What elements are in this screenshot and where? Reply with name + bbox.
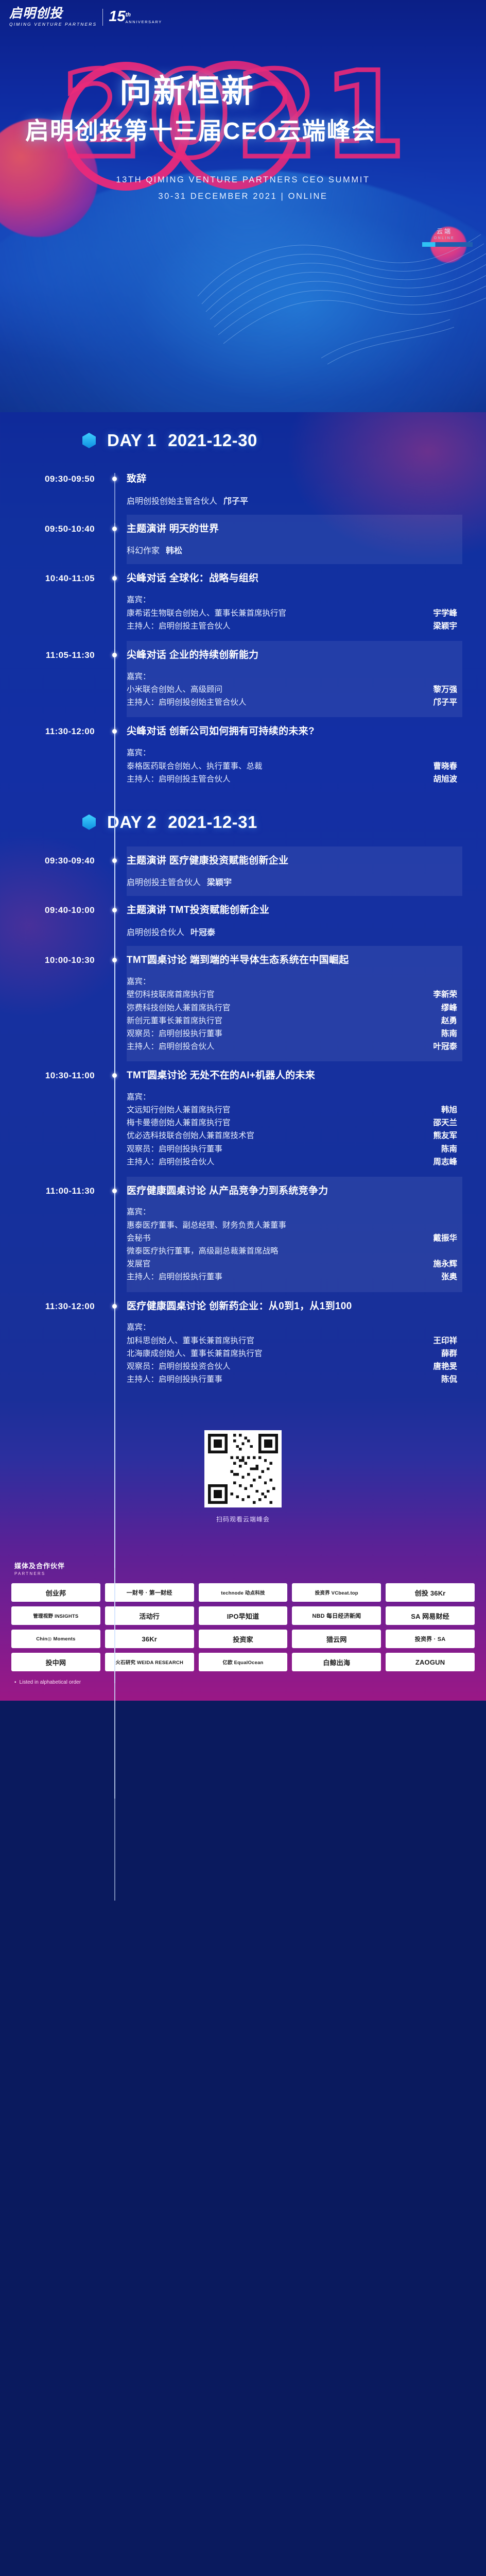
participant-role: 主持人：启明创投主管合伙人 <box>127 620 426 633</box>
session-speaker: 启明创投主管合伙人梁颖宇 <box>127 875 457 888</box>
participant-name: 陈南 <box>434 1027 457 1040</box>
partners-title-en: PARTNERS <box>14 1571 475 1576</box>
participant-line: 主持人：启明创投执行董事陈侃 <box>127 1373 457 1386</box>
participant-name: 胡旭波 <box>426 773 457 786</box>
partner-logo[interactable]: 36Kr <box>105 1630 194 1648</box>
hero-english-line-1: 13TH QIMING VENTURE PARTNERS CEO SUMMIT <box>0 175 486 185</box>
partners-note: Listed in alphabetical order <box>11 1680 475 1685</box>
partner-logo[interactable]: 活动行 <box>105 1606 194 1625</box>
participant-role: 新创元董事长兼首席执行官 <box>127 1014 434 1027</box>
participant-line: 弥费科技创始人兼首席执行官缪峰 <box>127 1002 457 1014</box>
guest-label: 嘉宾： <box>127 1206 457 1219</box>
session-speaker: 启明创投合伙人叶冠泰 <box>127 925 457 938</box>
participant-line: 会秘书戴振华 <box>127 1232 457 1245</box>
partner-logo[interactable]: 猎云网 <box>292 1630 381 1648</box>
speaker-name: 邝子平 <box>217 497 248 506</box>
partner-logo[interactable]: 投资界 · SA <box>386 1630 475 1648</box>
anniversary-label: ANNIVERSARY <box>126 20 162 24</box>
partner-row: 创业邦一财号 · 第一财经technode 动点科技投资界 VCbeat.top… <box>11 1583 475 1602</box>
session-body: 主题演讲 明天的世界科幻作家韩松 <box>127 523 486 556</box>
partners-section: 媒体及合作伙伴 PARTNERS 创业邦一财号 · 第一财经technode 动… <box>0 1547 486 1701</box>
participant-line: 壁仞科技联席首席执行官李新荣 <box>127 988 457 1001</box>
partner-row: Chin◎ Moments36Kr投资家猎云网投资界 · SA <box>11 1630 475 1648</box>
partners-title-cn: 媒体及合作伙伴 <box>14 1561 475 1570</box>
session-row: 11:05-11:30尖峰对话 企业的持续创新能力嘉宾：小米联合创始人、高级顾问… <box>0 641 486 717</box>
timeline-dot-icon <box>112 477 117 481</box>
participant-line: 康希诺生物联合创始人、董事长兼首席执行官宇学峰 <box>127 607 457 620</box>
hero-english-line-2: 30-31 DECEMBER 2021 | ONLINE <box>0 192 486 201</box>
guest-label: 嘉宾： <box>127 594 457 607</box>
participant-line: 发展官施永辉 <box>127 1258 457 1270</box>
timeline-dot-icon <box>112 576 117 581</box>
session-body: 医疗健康圆桌讨论 从产品竞争力到系统竞争力嘉宾：惠泰医疗董事、副总经理、财务负责… <box>127 1185 486 1284</box>
partner-logo[interactable]: 亿欧 EqualOcean <box>199 1653 288 1671</box>
partner-logo[interactable]: 投资家 <box>199 1630 288 1648</box>
spacer <box>127 585 457 594</box>
speaker-role: 科幻作家 <box>127 547 160 555</box>
session-row: 11:00-11:30医疗健康圆桌讨论 从产品竞争力到系统竞争力嘉宾：惠泰医疗董… <box>0 1177 486 1292</box>
partner-logo[interactable]: 创业邦 <box>11 1583 100 1602</box>
session-row: 09:30-09:50致辞启明创投创始主管合伙人邝子平 <box>0 465 486 515</box>
participant-line: 主持人：启明创投主管合伙人梁颖宇 <box>127 620 457 633</box>
session-time: 09:30-09:50 <box>0 473 103 506</box>
session-row: 10:00-10:30TMT圆桌讨论 端到端的半导体生态系统在中国崛起嘉宾：壁仞… <box>0 946 486 1061</box>
participant-name <box>279 1245 286 1258</box>
participant-role: 主持人：启明创投创始主管合伙人 <box>127 696 426 709</box>
participant-role: 观察员：启明创投执行董事 <box>127 1143 434 1156</box>
session-title: 主题演讲 医疗健康投资赋能创新企业 <box>127 855 457 868</box>
guest-label: 嘉宾： <box>127 975 457 989</box>
anniversary-badge: 15 th ANNIVERSARY <box>109 10 162 24</box>
participant-line: 惠泰医疗董事、副总经理、财务负责人兼董事 <box>127 1219 457 1232</box>
participant-name: 宇学峰 <box>426 607 457 620</box>
partner-logo[interactable]: 白鲸出海 <box>292 1653 381 1671</box>
participant-name: 黎万强 <box>426 683 457 696</box>
speaker-name: 韩松 <box>160 547 182 555</box>
session-speaker: 科幻作家韩松 <box>127 544 457 556</box>
participant-role: 泰格医药联合创始人、执行董事、总裁 <box>127 760 426 773</box>
session-title: 医疗健康圆桌讨论 从产品竞争力到系统竞争力 <box>127 1185 457 1198</box>
speaker-role: 启明创投主管合伙人 <box>127 878 201 887</box>
participant-line: 加科思创始人、董事长兼首席执行官王印祥 <box>127 1334 457 1347</box>
session-title: 医疗健康圆桌讨论 创新药企业：从0到1，从1到100 <box>127 1300 457 1313</box>
session-time: 10:00-10:30 <box>0 954 103 1053</box>
spacer <box>127 1197 457 1206</box>
partner-logo[interactable]: NBD 每日经济新闻 <box>292 1606 381 1625</box>
timeline-axis <box>103 523 127 556</box>
qr-code-image <box>208 1434 278 1504</box>
partner-logo[interactable]: 一财号 · 第一财经 <box>105 1583 194 1602</box>
session-row: 11:30-12:00尖峰对话 创新公司如何拥有可持续的未来?嘉宾：泰格医药联合… <box>0 717 486 793</box>
participant-name: 周志峰 <box>426 1156 457 1168</box>
timeline-axis <box>103 649 127 709</box>
participant-role: 微泰医疗执行董事，高级副总裁兼首席战略 <box>127 1245 279 1258</box>
online-badge-cn: 云端 <box>416 227 473 235</box>
participant-line: 主持人：启明创投执行董事张奥 <box>127 1270 457 1283</box>
spacer <box>127 867 457 875</box>
session-title: 尖峰对话 全球化：战略与组织 <box>127 572 457 585</box>
anniversary-number: 15 <box>109 10 125 23</box>
session-time: 09:30-09:40 <box>0 855 103 888</box>
session-body: 医疗健康圆桌讨论 创新药企业：从0到1，从1到100嘉宾：加科思创始人、董事长兼… <box>127 1300 486 1386</box>
participant-name: 邵天兰 <box>426 1116 457 1129</box>
participant-name: 施永辉 <box>426 1258 457 1270</box>
participant-role: 优必选科技联合创始人兼首席技术官 <box>127 1129 426 1142</box>
timeline-axis <box>103 725 127 785</box>
hero-subheadline: 启明创投第十三届CEO云端峰会 <box>25 112 376 146</box>
timeline-dot-icon <box>112 958 117 962</box>
participant-role: 主持人：启明创投主管合伙人 <box>127 773 426 786</box>
guest-label: 嘉宾： <box>127 1091 457 1104</box>
participant-name: 熊友军 <box>426 1129 457 1142</box>
partner-logo[interactable]: 管理视野 INSIGHTS <box>11 1606 100 1625</box>
participant-role: 壁仞科技联席首席执行官 <box>127 988 426 1001</box>
session-row: 09:40-10:00主题演讲 TMT投资赋能创新企业启明创投合伙人叶冠泰 <box>0 896 486 946</box>
participant-line: 观察员：启明创投投资合伙人唐艳旻 <box>127 1360 457 1373</box>
participant-role: 发展官 <box>127 1258 426 1270</box>
session-time: 10:40-11:05 <box>0 572 103 632</box>
participant-role: 北海康成创始人、董事长兼首席执行官 <box>127 1347 434 1360</box>
guest-label: 嘉宾： <box>127 1321 457 1334</box>
qr-section: 扫码观看云端峰会 <box>0 1399 486 1547</box>
partner-logo[interactable]: 创投 36Kr <box>386 1583 475 1602</box>
participant-role: 主持人：启明创投执行董事 <box>127 1270 434 1283</box>
session-body: TMT圆桌讨论 无处不在的AI+机器人的未来嘉宾：文远知行创始人兼首席执行官韩旭… <box>127 1070 486 1168</box>
spacer <box>127 662 457 670</box>
session-body: 主题演讲 TMT投资赋能创新企业启明创投合伙人叶冠泰 <box>127 904 486 938</box>
participant-line: 优必选科技联合创始人兼首席技术官熊友军 <box>127 1129 457 1142</box>
day-header-1: DAY 12021-12-30 <box>0 412 486 465</box>
participant-role: 主持人：启明创投合伙人 <box>127 1156 426 1168</box>
participant-name: 梁颖宇 <box>426 620 457 633</box>
timeline-dot-icon <box>112 1073 117 1078</box>
participant-name <box>286 1219 293 1232</box>
participant-line: 梅卡曼德创始人兼首席执行官邵天兰 <box>127 1116 457 1129</box>
participant-name: 张奥 <box>434 1270 457 1283</box>
session-body: 尖峰对话 全球化：战略与组织嘉宾：康希诺生物联合创始人、董事长兼首席执行官宇学峰… <box>127 572 486 632</box>
timeline-axis <box>103 473 127 506</box>
day-date: 2021-12-31 <box>168 812 257 832</box>
participant-name: 陈南 <box>434 1143 457 1156</box>
timeline-dot-icon <box>112 1304 117 1309</box>
partner-logo[interactable]: IPO早知道 <box>199 1606 288 1625</box>
partner-logo[interactable]: 投资界 VCbeat.top <box>292 1583 381 1602</box>
session-title: 主题演讲 明天的世界 <box>127 523 457 536</box>
spacer <box>127 535 457 544</box>
participant-role: 观察员：启明创投执行董事 <box>127 1027 434 1040</box>
participant-name: 邝子平 <box>426 696 457 709</box>
timeline-dot-icon <box>112 527 117 531</box>
participant-line: 主持人：启明创投主管合伙人胡旭波 <box>127 773 457 786</box>
session-title: TMT圆桌讨论 端到端的半导体生态系统在中国崛起 <box>127 954 457 967</box>
session-speaker: 启明创投创始主管合伙人邝子平 <box>127 494 457 506</box>
spacer <box>127 1082 457 1091</box>
participant-line: 微泰医疗执行董事，高级副总裁兼首席战略 <box>127 1245 457 1258</box>
session-title: 致辞 <box>127 473 457 486</box>
spacer <box>127 738 457 747</box>
participant-line: 主持人：启明创投合伙人周志峰 <box>127 1156 457 1168</box>
session-time: 11:30-12:00 <box>0 1300 103 1386</box>
session-time: 10:30-11:00 <box>0 1070 103 1168</box>
hero-banner: 启明创投 QIMING VENTURE PARTNERS 15 th ANNIV… <box>0 0 486 412</box>
participant-line: 主持人：启明创投创始主管合伙人邝子平 <box>127 696 457 709</box>
speaker-name: 叶冠泰 <box>184 928 215 937</box>
spacer <box>127 917 457 925</box>
participant-line: 泰格医药联合创始人、执行董事、总裁曹晓春 <box>127 760 457 773</box>
participant-role: 弥费科技创始人兼首席执行官 <box>127 1002 434 1014</box>
participant-role: 主持人：启明创投执行董事 <box>127 1373 434 1386</box>
day-date: 2021-12-30 <box>168 431 257 450</box>
session-time: 11:30-12:00 <box>0 725 103 785</box>
session-time: 11:05-11:30 <box>0 649 103 709</box>
session-row: 11:30-12:00医疗健康圆桌讨论 创新药企业：从0到1，从1到100嘉宾：… <box>0 1292 486 1395</box>
brand-logo-cn: 启明创投 <box>9 7 97 20</box>
timeline-axis <box>103 1070 127 1168</box>
participant-name: 薛群 <box>434 1347 457 1360</box>
participant-name: 韩旭 <box>434 1104 457 1116</box>
day-header-2: DAY 22021-12-31 <box>0 794 486 846</box>
timeline-dot-icon <box>112 1189 117 1193</box>
timeline-axis <box>103 572 127 632</box>
guest-label: 嘉宾： <box>127 670 457 684</box>
session-row: 10:40-11:05尖峰对话 全球化：战略与组织嘉宾：康希诺生物联合创始人、董… <box>0 564 486 640</box>
session-title: 主题演讲 TMT投资赋能创新企业 <box>127 904 457 917</box>
session-time: 09:40-10:00 <box>0 904 103 938</box>
participant-name: 陈侃 <box>434 1373 457 1386</box>
participant-role: 加科思创始人、董事长兼首席执行官 <box>127 1334 426 1347</box>
spacer <box>127 486 457 494</box>
participant-line: 小米联合创始人、高级顾问黎万强 <box>127 683 457 696</box>
timeline-dot-icon <box>112 908 117 912</box>
session-time: 11:00-11:30 <box>0 1185 103 1284</box>
timeline-dot-icon <box>112 858 117 863</box>
timeline-axis <box>103 904 127 938</box>
participant-name: 唐艳旻 <box>426 1360 457 1373</box>
logo-divider <box>102 9 103 26</box>
timeline-dot-icon <box>112 653 117 657</box>
participant-line: 观察员：启明创投执行董事陈南 <box>127 1143 457 1156</box>
participant-role: 小米联合创始人、高级顾问 <box>127 683 426 696</box>
brand-logo-en: QIMING VENTURE PARTNERS <box>9 22 97 27</box>
participant-name: 李新荣 <box>426 988 457 1001</box>
spacer <box>127 967 457 975</box>
timeline-axis <box>103 855 127 888</box>
session-row: 09:50-10:40主题演讲 明天的世界科幻作家韩松 <box>0 515 486 565</box>
session-time: 09:50-10:40 <box>0 523 103 556</box>
agenda-section: DAY 12021-12-3009:30-09:50致辞启明创投创始主管合伙人邝… <box>0 412 486 1399</box>
timeline-line <box>114 1300 115 1901</box>
session-body: 尖峰对话 创新公司如何拥有可持续的未来?嘉宾：泰格医药联合创始人、执行董事、总裁… <box>127 725 486 785</box>
participant-role: 主持人：启明创投合伙人 <box>127 1040 426 1053</box>
anniversary-suffix: th <box>126 12 131 18</box>
participant-name: 叶冠泰 <box>426 1040 457 1053</box>
participant-role: 观察员：启明创投投资合伙人 <box>127 1360 426 1373</box>
partner-logo[interactable]: SA 网易财经 <box>386 1606 475 1625</box>
partner-logo[interactable]: Chin◎ Moments <box>11 1630 100 1648</box>
session-row: 10:30-11:00TMT圆桌讨论 无处不在的AI+机器人的未来嘉宾：文远知行… <box>0 1061 486 1177</box>
participant-role: 会秘书 <box>127 1232 426 1245</box>
participant-role: 康希诺生物联合创始人、董事长兼首席执行官 <box>127 607 426 620</box>
partner-row: 投中网火石研究 WEIDA RESEARCH亿欧 EqualOcean白鲸出海Z… <box>11 1653 475 1671</box>
online-badge-en: ONLINE <box>416 236 473 240</box>
timeline-axis <box>103 954 127 1053</box>
session-title: TMT圆桌讨论 无处不在的AI+机器人的未来 <box>127 1070 457 1082</box>
partner-row: 管理视野 INSIGHTS活动行IPO早知道NBD 每日经济新闻SA 网易财经 <box>11 1606 475 1625</box>
timeline-axis <box>103 1185 127 1284</box>
online-badge: 云端 ONLINE <box>416 227 473 247</box>
day-title: DAY 1 <box>107 431 157 450</box>
participant-role: 惠泰医疗董事、副总经理、财务负责人兼董事 <box>127 1219 286 1232</box>
partner-logo[interactable]: 投中网 <box>11 1653 100 1671</box>
session-title: 尖峰对话 创新公司如何拥有可持续的未来? <box>127 725 457 738</box>
partner-logo[interactable]: 火石研究 WEIDA RESEARCH <box>105 1653 194 1671</box>
partners-logo-grid: 创业邦一财号 · 第一财经technode 动点科技投资界 VCbeat.top… <box>11 1583 475 1671</box>
session-body: 尖峰对话 企业的持续创新能力嘉宾：小米联合创始人、高级顾问黎万强主持人：启明创投… <box>127 649 486 709</box>
online-badge-bar <box>422 242 473 247</box>
participant-name: 缪峰 <box>434 1002 457 1014</box>
hero-headline: 向新恒新 <box>119 65 255 111</box>
session-body: 致辞启明创投创始主管合伙人邝子平 <box>127 473 486 506</box>
qr-caption: 扫码观看云端峰会 <box>0 1515 486 1523</box>
participant-name: 赵勇 <box>434 1014 457 1027</box>
participant-line: 主持人：启明创投合伙人叶冠泰 <box>127 1040 457 1053</box>
participant-role: 文远知行创始人兼首席执行官 <box>127 1104 434 1116</box>
participant-name: 曹晓春 <box>426 760 457 773</box>
session-title: 尖峰对话 企业的持续创新能力 <box>127 649 457 662</box>
partners-heading: 媒体及合作伙伴 PARTNERS <box>11 1561 475 1576</box>
brand-logo: 启明创投 QIMING VENTURE PARTNERS 15 th ANNIV… <box>9 7 162 27</box>
session-body: 主题演讲 医疗健康投资赋能创新企业启明创投主管合伙人梁颖宇 <box>127 855 486 888</box>
speaker-role: 启明创投合伙人 <box>127 928 184 937</box>
timeline-dot-icon <box>112 729 117 734</box>
participant-name: 王印祥 <box>426 1334 457 1347</box>
session-body: TMT圆桌讨论 端到端的半导体生态系统在中国崛起嘉宾：壁仞科技联席首席执行官李新… <box>127 954 486 1053</box>
partner-logo[interactable]: technode 动点科技 <box>199 1583 288 1602</box>
participant-line: 文远知行创始人兼首席执行官韩旭 <box>127 1104 457 1116</box>
speaker-role: 启明创投创始主管合伙人 <box>127 497 217 506</box>
hexagon-icon <box>82 433 96 448</box>
speaker-name: 梁颖宇 <box>201 878 232 887</box>
participant-name: 戴振华 <box>426 1232 457 1245</box>
participant-line: 北海康成创始人、董事长兼首席执行官薛群 <box>127 1347 457 1360</box>
qr-code[interactable] <box>204 1430 282 1507</box>
timeline-axis <box>103 1300 127 1386</box>
spacer <box>127 1313 457 1321</box>
hexagon-icon <box>82 815 96 830</box>
participant-line: 新创元董事长兼首席执行官赵勇 <box>127 1014 457 1027</box>
participant-line: 观察员：启明创投执行董事陈南 <box>127 1027 457 1040</box>
partner-logo[interactable]: ZAOGUN <box>386 1653 475 1671</box>
guest-label: 嘉宾： <box>127 747 457 760</box>
session-row: 09:30-09:40主题演讲 医疗健康投资赋能创新企业启明创投主管合伙人梁颖宇 <box>0 846 486 896</box>
participant-role: 梅卡曼德创始人兼首席执行官 <box>127 1116 426 1129</box>
